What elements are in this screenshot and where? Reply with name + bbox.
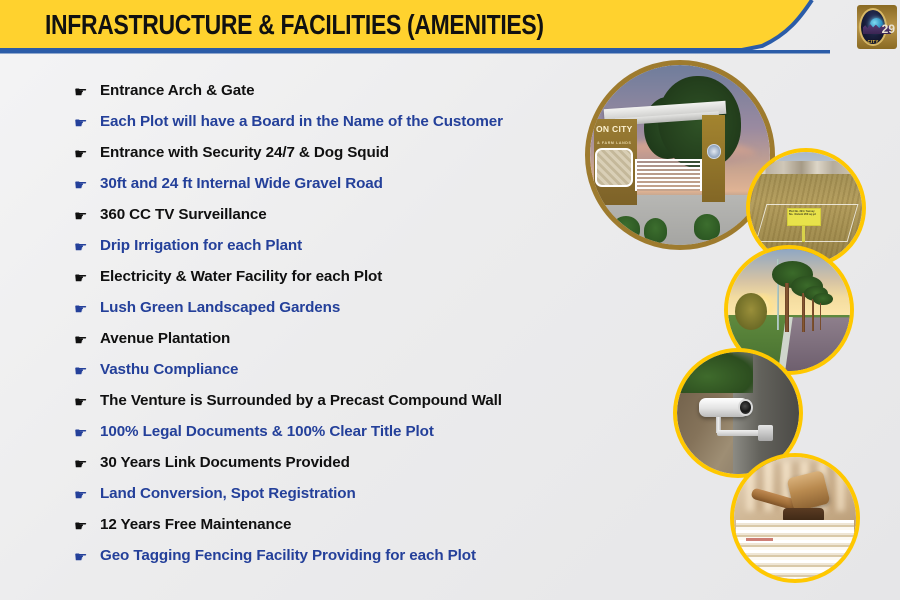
gate-sign-name: ON CITY — [594, 124, 635, 134]
list-item: ☛ Avenue Plantation — [74, 328, 594, 359]
list-item-label: Land Conversion, Spot Registration — [100, 483, 356, 505]
list-item-label: Entrance Arch & Gate — [100, 80, 254, 102]
pointing-hand-icon: ☛ — [74, 266, 100, 290]
list-item: ☛ The Venture is Surrounded by a Precast… — [74, 390, 594, 421]
list-item: ☛ Entrance with Security 24/7 & Dog Squi… — [74, 142, 594, 173]
list-item: ☛ Drip Irrigation for each Plant — [74, 235, 594, 266]
list-item: ☛ Electricity & Water Facility for each … — [74, 266, 594, 297]
pointing-hand-icon: ☛ — [74, 204, 100, 228]
pointing-hand-icon: ☛ — [74, 483, 100, 507]
pointing-hand-icon: ☛ — [74, 297, 100, 321]
photo-entrance-gate: ON CITY & FARM LANDS — [585, 60, 775, 250]
list-item: ☛ Vasthu Compliance — [74, 359, 594, 390]
pointing-hand-icon: ☛ — [74, 235, 100, 259]
pointing-hand-icon: ☛ — [74, 514, 100, 538]
gate-sign-sub: & FARM LANDS — [594, 141, 635, 145]
list-item-label: Each Plot will have a Board in the Name … — [100, 111, 503, 133]
list-item-label: 30ft and 24 ft Internal Wide Gravel Road — [100, 173, 383, 195]
list-item: ☛ 360 CC TV Surveillance — [74, 204, 594, 235]
list-item-label: The Venture is Surrounded by a Precast C… — [100, 390, 502, 412]
list-item: ☛ Each Plot will have a Board in the Nam… — [74, 111, 594, 142]
list-item: ☛ Entrance Arch & Gate — [74, 80, 594, 111]
page-title: INFRASTRUCTURE & FACILITIES (AMENITIES) — [45, 9, 544, 41]
list-item-label: 100% Legal Documents & 100% Clear Title … — [100, 421, 434, 443]
list-item-label: Lush Green Landscaped Gardens — [100, 297, 340, 319]
moon-city-logo: CITY 29 — [857, 5, 897, 49]
plot-board-text: Plot No. 291 / Survey No. / Extent 200 s… — [789, 210, 819, 216]
list-item: ☛ 30ft and 24 ft Internal Wide Gravel Ro… — [74, 173, 594, 204]
pointing-hand-icon: ☛ — [74, 142, 100, 166]
list-item-label: Geo Tagging Fencing Facility Providing f… — [100, 545, 476, 567]
list-item: ☛ 100% Legal Documents & 100% Clear Titl… — [74, 421, 594, 452]
list-item: ☛ Land Conversion, Spot Registration — [74, 483, 594, 514]
list-item-label: 12 Years Free Maintenance — [100, 514, 291, 536]
pointing-hand-icon: ☛ — [74, 390, 100, 414]
pointing-hand-icon: ☛ — [74, 328, 100, 352]
list-item-label: Vasthu Compliance — [100, 359, 238, 381]
pointing-hand-icon: ☛ — [74, 452, 100, 476]
pointing-hand-icon: ☛ — [74, 80, 100, 104]
list-item-label: 360 CC TV Surveillance — [100, 204, 267, 226]
photo-legal-documents — [730, 453, 860, 583]
list-item-label: Drip Irrigation for each Plant — [100, 235, 302, 257]
list-item: ☛ 12 Years Free Maintenance — [74, 514, 594, 545]
header-banner: INFRASTRUCTURE & FACILITIES (AMENITIES) — [0, 0, 900, 60]
pointing-hand-icon: ☛ — [74, 421, 100, 445]
list-item: ☛ Geo Tagging Fencing Facility Providing… — [74, 545, 594, 576]
pointing-hand-icon: ☛ — [74, 359, 100, 383]
list-item-label: Electricity & Water Facility for each Pl… — [100, 266, 382, 288]
list-item-label: Avenue Plantation — [100, 328, 230, 350]
page-number: 29 — [882, 22, 895, 36]
logo-wordmark: CITY — [859, 39, 887, 44]
list-item-label: 30 Years Link Documents Provided — [100, 452, 350, 474]
list-item-label: Entrance with Security 24/7 & Dog Squid — [100, 142, 389, 164]
list-item: ☛ 30 Years Link Documents Provided — [74, 452, 594, 483]
list-item: ☛ Lush Green Landscaped Gardens — [74, 297, 594, 328]
amenities-list: ☛ Entrance Arch & Gate ☛ Each Plot will … — [74, 80, 594, 576]
pointing-hand-icon: ☛ — [74, 173, 100, 197]
plot-id-board: Plot No. 291 / Survey No. / Extent 200 s… — [787, 208, 821, 226]
pointing-hand-icon: ☛ — [74, 111, 100, 135]
pointing-hand-icon: ☛ — [74, 545, 100, 569]
